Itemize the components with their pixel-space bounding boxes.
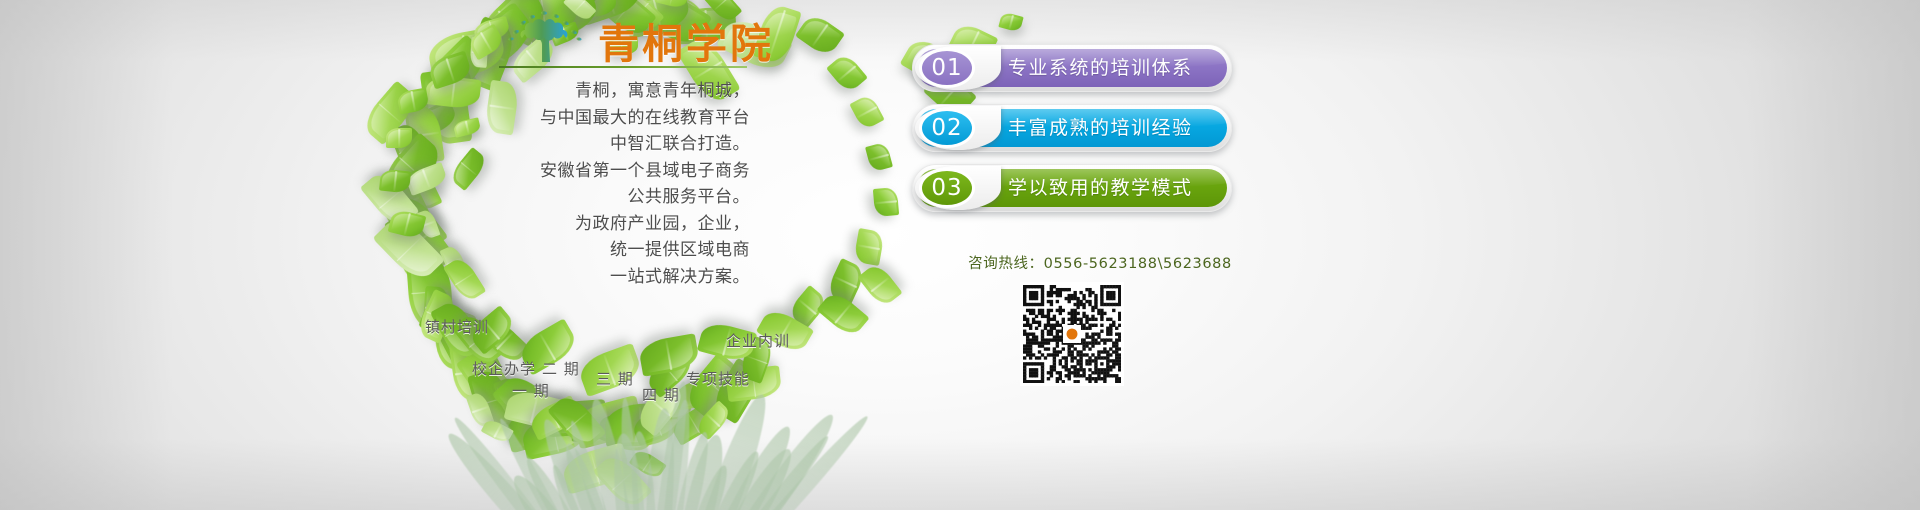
hotline-text: 咨询热线：0556-5623188\5623688 [950, 252, 1250, 273]
feature-badge-02[interactable]: 02 丰富成熟的培训经验 [912, 104, 1232, 152]
tree-logo-icon [498, 8, 594, 64]
feature-label: 丰富成熟的培训经验 [1008, 104, 1222, 152]
category-label: 企业内训 [726, 330, 790, 351]
feature-list: 01 专业系统的培训体系 02 丰富成熟的培训经验 03 学以致用的教学模式 [912, 44, 1232, 224]
description-line: 与中国最大的在线教育平台 [425, 105, 750, 132]
badge-number: 03 [919, 168, 975, 208]
badge-number-group: 03 [915, 166, 1001, 210]
leaf-shape [865, 142, 893, 173]
description-line: 中智汇联合打造。 [425, 131, 750, 158]
logo-underline [499, 66, 747, 68]
feature-badge-01[interactable]: 01 专业系统的培训体系 [912, 44, 1232, 92]
description-line: 统一提供区域电商 [425, 237, 750, 264]
badge-number: 01 [919, 48, 975, 88]
category-label: 一 期 [512, 380, 550, 401]
leaf-shape [853, 228, 885, 266]
leaf-shape [795, 11, 845, 59]
category-label: 三 期 [596, 368, 634, 389]
leaf-shape [849, 93, 884, 131]
category-label: 专项技能 [686, 368, 750, 389]
description-line: 为政府产业园，企业， [425, 211, 750, 238]
leaf-shape [826, 52, 868, 95]
description-line: 青桐，寓意青年桐城， [425, 78, 750, 105]
category-label: 四 期 [642, 384, 680, 405]
category-label: 镇村培训 [425, 316, 489, 337]
leaf-shape [998, 11, 1023, 32]
badge-number-group: 02 [915, 106, 1001, 150]
description-line: 安徽省第一个县域电子商务 [425, 158, 750, 185]
feature-badge-03[interactable]: 03 学以致用的教学模式 [912, 164, 1232, 212]
description-line: 一站式解决方案。 [425, 264, 750, 291]
brand-name: 青桐学院 [598, 10, 774, 70]
category-label: 校企办学 [472, 358, 536, 379]
feature-label: 学以致用的教学模式 [1008, 164, 1222, 212]
badge-number-group: 01 [915, 46, 1001, 90]
wechat-qr-code[interactable] [1020, 282, 1124, 386]
description-line: 公共服务平台。 [425, 184, 750, 211]
leaf-shape [857, 261, 902, 309]
leaf-shape [873, 187, 899, 217]
leaf-shape [386, 128, 412, 148]
badge-number: 02 [919, 108, 975, 148]
promotional-banner: 青桐学院 青桐，寓意青年桐城，与中国最大的在线教育平台中智汇联合打造。安徽省第一… [0, 0, 1920, 510]
feature-label: 专业系统的培训体系 [1008, 44, 1222, 92]
category-label: 二 期 [542, 358, 580, 379]
description-text: 青桐，寓意青年桐城，与中国最大的在线教育平台中智汇联合打造。安徽省第一个县域电子… [425, 78, 750, 290]
brand-logo: 青桐学院 [498, 6, 750, 68]
